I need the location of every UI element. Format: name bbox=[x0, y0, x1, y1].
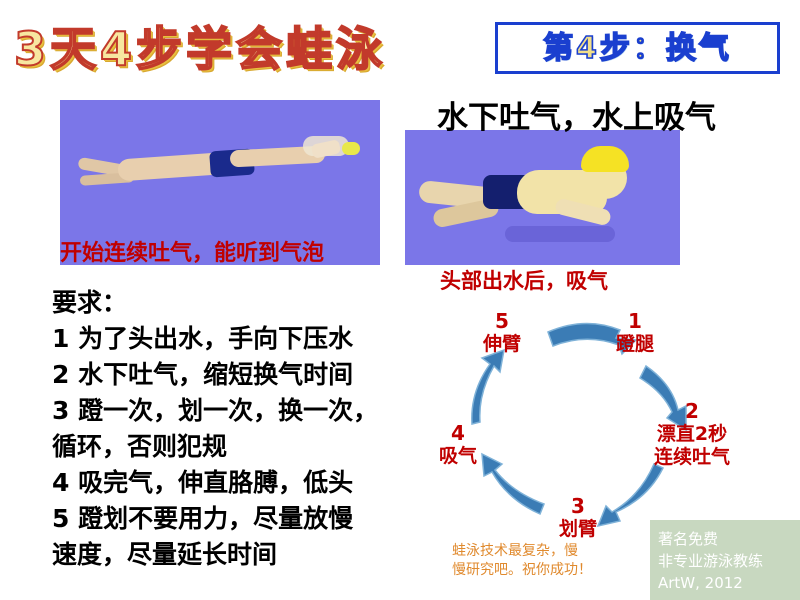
footer-note-line2: 慢研究吧。祝你成功！ bbox=[452, 561, 642, 580]
requirements-block: 要求： 1 为了头出水，手向下压水 2 水下吐气，缩短换气时间 3 蹬一次，划一… bbox=[52, 285, 402, 573]
swimmer-cap-shape bbox=[342, 142, 360, 155]
cycle-step-5: 5 伸臂 bbox=[472, 310, 532, 356]
cycle-step-1-label: 蹬腿 bbox=[605, 333, 665, 356]
page-title: 3天4步学会蛙泳 bbox=[14, 18, 444, 80]
footer-note-line1: 蛙泳技术最复杂，慢 bbox=[452, 542, 642, 561]
cycle-step-1: 1 蹬腿 bbox=[605, 310, 665, 356]
slide-canvas: 3天4步学会蛙泳 第4步：换气 水下吐气，水上吸气 开始连续吐气，能听到气泡 头… bbox=[0, 0, 800, 600]
water-shadow-shape bbox=[505, 226, 615, 242]
requirement-line-5: 4 吸完气，伸直胳膊，低头 bbox=[52, 465, 402, 501]
cycle-step-3-number: 3 bbox=[548, 495, 608, 518]
step-badge-label: 第4步：换气 bbox=[498, 25, 777, 71]
caption-right-photo: 头部出水后，吸气 bbox=[440, 265, 700, 295]
credit-line3: ArtW, 2012 bbox=[658, 572, 798, 594]
requirement-line-7: 速度，尽量延长时间 bbox=[52, 537, 402, 573]
cycle-step-1-number: 1 bbox=[605, 310, 665, 333]
cycle-step-2: 2 漂直2秒 连续吐气 bbox=[642, 400, 742, 469]
requirement-line-3: 3 蹬一次，划一次，换一次， bbox=[52, 393, 402, 429]
cycle-step-4: 4 吸气 bbox=[428, 422, 488, 468]
cycle-step-4-label: 吸气 bbox=[428, 445, 488, 468]
requirement-line-1: 1 为了头出水，手向下压水 bbox=[52, 321, 402, 357]
arrow-bottom-left-icon bbox=[482, 454, 544, 514]
cycle-step-3-label: 划臂 bbox=[548, 518, 608, 541]
swimmer2-cap-shape bbox=[581, 146, 629, 172]
requirement-line-4: 循环，否则犯规 bbox=[52, 429, 402, 465]
cycle-step-2-label-line1: 漂直2秒 bbox=[642, 423, 742, 446]
cycle-step-5-number: 5 bbox=[472, 310, 532, 333]
credit-line2: 非专业游泳教练 bbox=[658, 550, 798, 572]
step-badge: 第4步：换气 bbox=[495, 22, 780, 74]
cycle-step-3: 3 划臂 bbox=[548, 495, 608, 541]
headline-breathing: 水下吐气，水上吸气 bbox=[437, 92, 787, 137]
cycle-step-2-number: 2 bbox=[642, 400, 742, 423]
requirement-line-2: 2 水下吐气，缩短换气时间 bbox=[52, 357, 402, 393]
caption-left-photo: 开始连续吐气，能听到气泡 bbox=[60, 235, 390, 267]
credit-box: 著名免费 非专业游泳教练 ArtW, 2012 bbox=[650, 520, 800, 600]
credit-line1: 著名免费 bbox=[658, 528, 798, 550]
cycle-step-5-label: 伸臂 bbox=[472, 333, 532, 356]
cycle-step-2-label-line2: 连续吐气 bbox=[642, 446, 742, 469]
cycle-step-4-number: 4 bbox=[428, 422, 488, 445]
requirements-heading: 要求： bbox=[52, 285, 402, 321]
arrow-left-icon bbox=[472, 350, 504, 424]
photo-swimmer-inhale bbox=[405, 130, 680, 265]
footer-note: 蛙泳技术最复杂，慢 慢研究吧。祝你成功！ bbox=[452, 542, 642, 580]
credit-text: 著名免费 非专业游泳教练 ArtW, 2012 bbox=[658, 528, 798, 594]
requirement-line-6: 5 蹬划不要用力，尽量放慢 bbox=[52, 501, 402, 537]
